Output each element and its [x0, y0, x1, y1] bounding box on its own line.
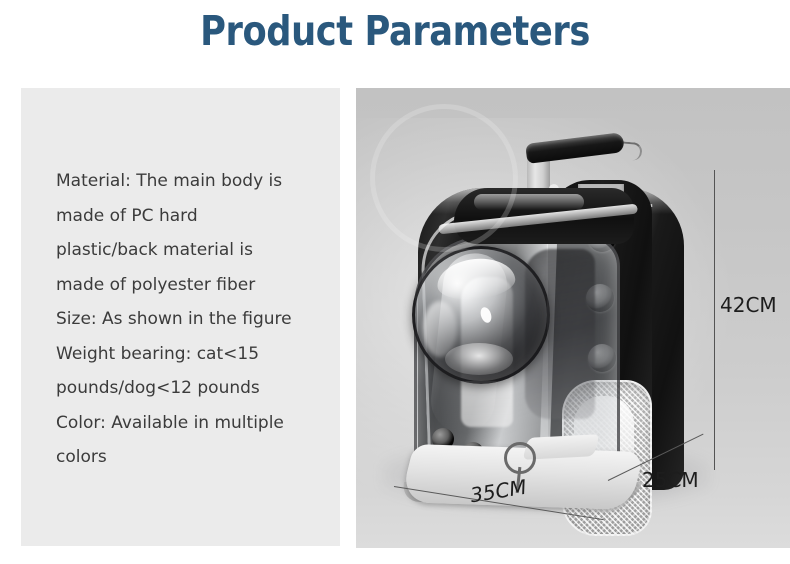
spec-line-material-1: Material: The main body is — [56, 164, 324, 199]
spec-line-material-2: made of PC hard — [56, 199, 324, 234]
height-dimension-label: 42CM — [720, 293, 777, 317]
spec-line-weight-1: Weight bearing: cat<15 — [56, 337, 324, 372]
spec-line-color-1: Color: Available in multiple — [56, 406, 324, 441]
spec-line-size: Size: As shown in the figure — [56, 302, 324, 337]
spec-line-material-3: plastic/back material is — [56, 233, 324, 268]
dome-highlight-top — [435, 255, 517, 303]
bubble-window-dome — [412, 246, 550, 384]
spec-line-color-2: colors — [56, 440, 324, 475]
d-ring-icon — [504, 442, 536, 474]
specification-list: Material: The main body is made of PC ha… — [56, 164, 324, 475]
spec-line-material-4: made of polyester fiber — [56, 268, 324, 303]
height-dimension-line — [714, 170, 715, 470]
product-photo-panel: 42CM 35CM 25CM — [356, 88, 790, 548]
specification-panel: Material: The main body is made of PC ha… — [21, 88, 340, 546]
page-title: Product Parameters — [55, 6, 734, 57]
depth-dimension-label: 25CM — [642, 468, 699, 492]
top-handle — [525, 132, 625, 164]
top-cap-sheen — [474, 194, 584, 210]
spec-line-weight-2: pounds/dog<12 pounds — [56, 371, 324, 406]
dome-specular-spot — [479, 306, 493, 324]
dome-highlight-bottom — [445, 343, 513, 375]
pet-carrier-backpack — [376, 110, 706, 500]
